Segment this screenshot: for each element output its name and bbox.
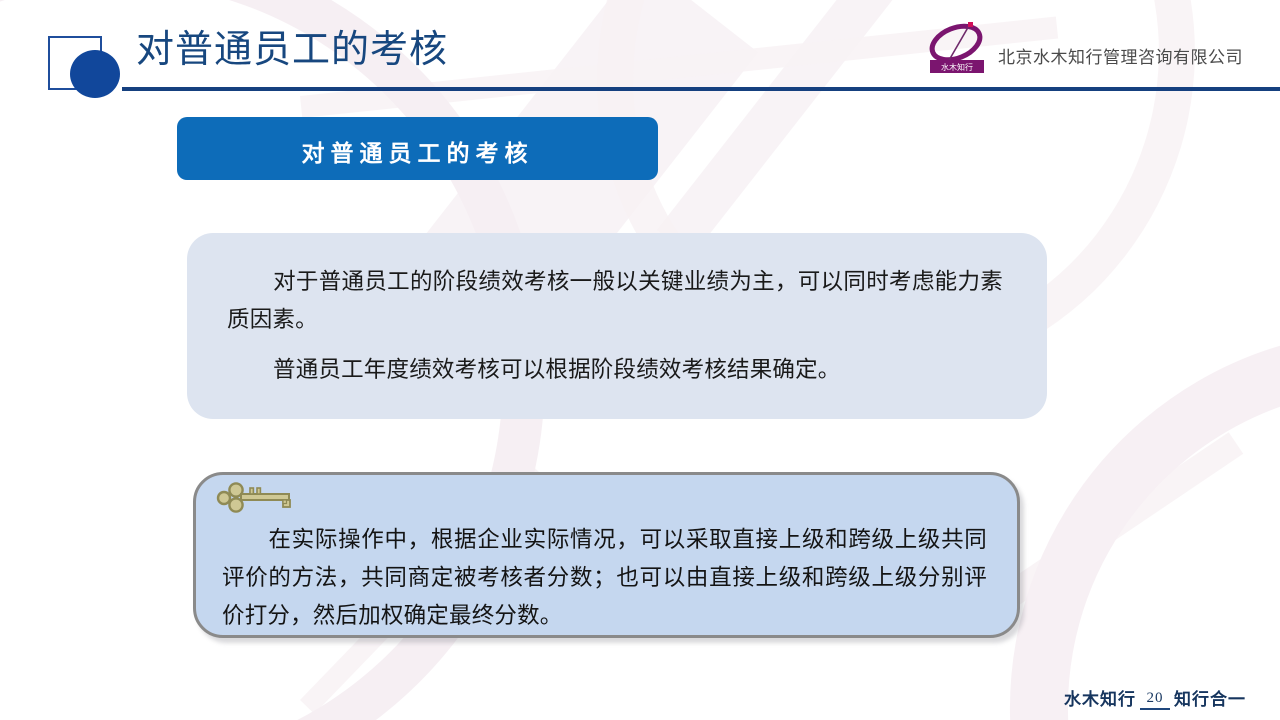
page-title: 对普通员工的考核 (136, 24, 448, 76)
slide-footer: 水木知行 20 知行合一 (1064, 685, 1246, 710)
footer-left-text: 水木知行 (1064, 685, 1136, 710)
paragraph: 对于普通员工的阶段绩效考核一般以关键业绩为主，可以同时考虑能力素质因素。 (227, 263, 1003, 339)
company-ellipse-logo-icon: 水木知行 (922, 18, 992, 78)
page-number-block: 20 (1140, 691, 1170, 710)
page-number-underline (1140, 708, 1170, 710)
section-banner: 对普通员工的考核 (177, 117, 658, 180)
paragraph-text: 对于普通员工的阶段绩效考核一般以关键业绩为主，可以同时考虑能力素质因素。 (227, 269, 1003, 332)
content-box-primary: 对于普通员工的阶段绩效考核一般以关键业绩为主，可以同时考虑能力素质因素。 普通员… (187, 233, 1047, 419)
slide-header: 对普通员工的考核 水木知行 北京水木知行管理咨询有限公司 (0, 0, 1280, 100)
slide-canvas: 对普通员工的考核 水木知行 北京水木知行管理咨询有限公司 对普通员工的考核 对于… (0, 0, 1280, 720)
page-number: 20 (1140, 691, 1170, 705)
company-name: 北京水木知行管理咨询有限公司 (998, 46, 1243, 70)
paragraph: 在实际操作中，根据企业实际情况，可以采取直接上级和跨级上级共同评价的方法，共同商… (222, 521, 987, 635)
paragraph-text: 在实际操作中，根据企业实际情况，可以采取直接上级和跨级上级共同评价的方法，共同商… (222, 527, 987, 628)
logo-mark-text: 水木知行 (941, 62, 973, 72)
paragraph-text: 普通员工年度绩效考核可以根据阶段绩效考核结果确定。 (273, 357, 841, 382)
filled-circle-icon (70, 50, 120, 98)
paragraph: 普通员工年度绩效考核可以根据阶段绩效考核结果确定。 (227, 351, 1003, 389)
footer-right-text: 知行合一 (1174, 685, 1246, 710)
content-box-note: 在实际操作中，根据企业实际情况，可以采取直接上级和跨级上级共同评价的方法，共同商… (193, 472, 1020, 638)
section-banner-label: 对普通员工的考核 (177, 134, 658, 168)
key-icon (212, 481, 298, 515)
header-divider (122, 87, 1280, 91)
